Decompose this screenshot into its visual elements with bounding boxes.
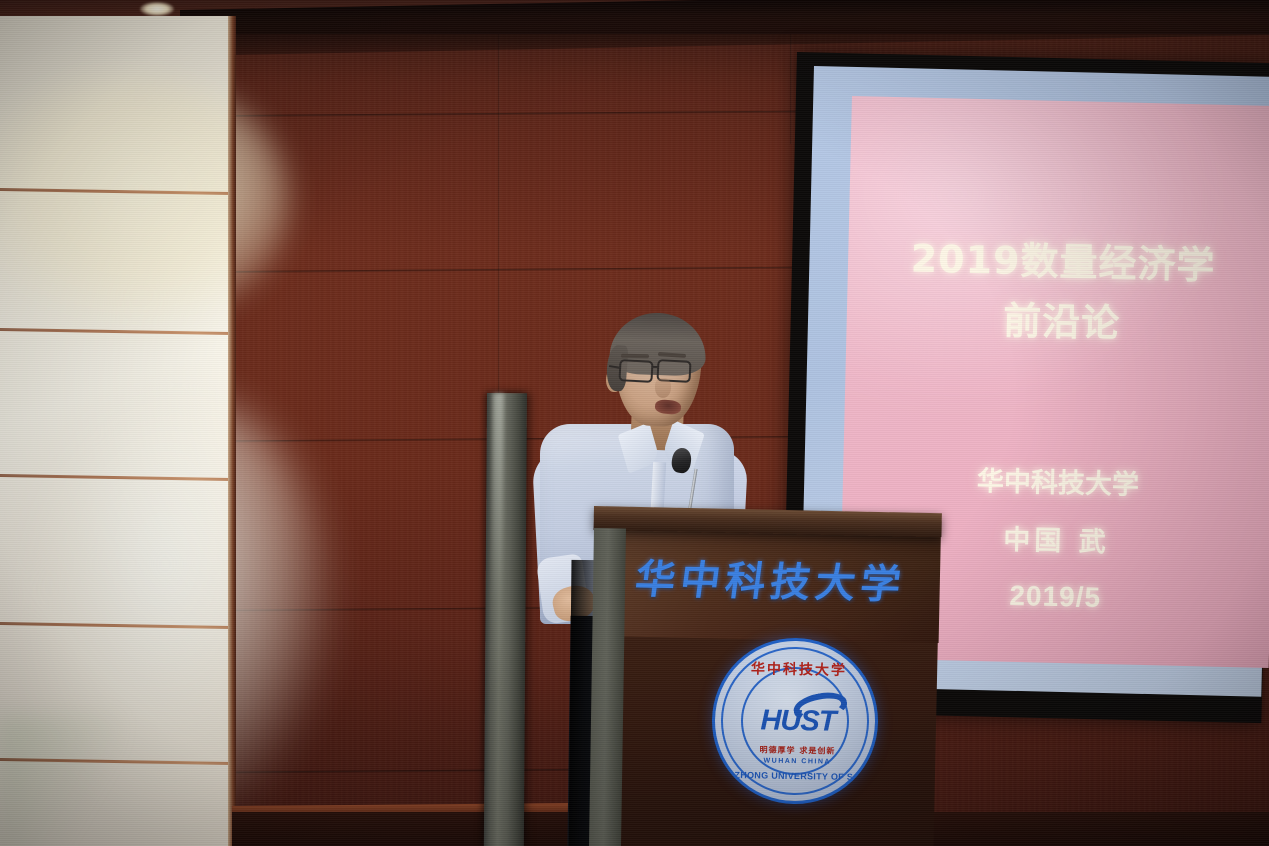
metal-column [484,393,527,846]
nose [655,378,671,398]
cream-side-wall [0,16,232,846]
emblem-english-name: HUAZHONG UNIVERSITY OF SCIENCE AND TECHN… [714,770,879,783]
eyeglasses-lens-left [618,359,653,383]
column-highlight [491,393,504,693]
slide-organization: 华中科技大学 [843,456,1269,505]
eyeglasses-bridge [652,366,659,368]
emblem-acronym: HUST [715,704,880,740]
slide-title-line1: 2019数量经济学 [848,226,1269,291]
university-emblem: 华中科技大学 HUST 明德厚学 求是创新 WUHAN CHINA HUAZHO… [711,637,880,806]
wall-green-reflection [0,716,120,846]
cream-wall-seam [0,328,232,335]
wall-vertical-seam [498,34,500,406]
lecture-hall-photo: 2019数量经济学 前沿论 华中科技大学 中国 武 2019/5 [0,0,1269,846]
podium-front-panel: 华中科技大学 [601,524,941,643]
podium-nameplate: 华中科技大学 [601,546,941,611]
podium-side-panel [589,528,626,846]
emblem-chinese-name: 华中科技大学 [716,658,880,681]
slide-title-line2: 前沿论 [846,286,1269,351]
eyebrow-left [621,354,649,358]
wall-vertical-seam [790,34,792,144]
wall-corner-edge [228,16,236,846]
ceiling-spotlight [140,2,174,16]
